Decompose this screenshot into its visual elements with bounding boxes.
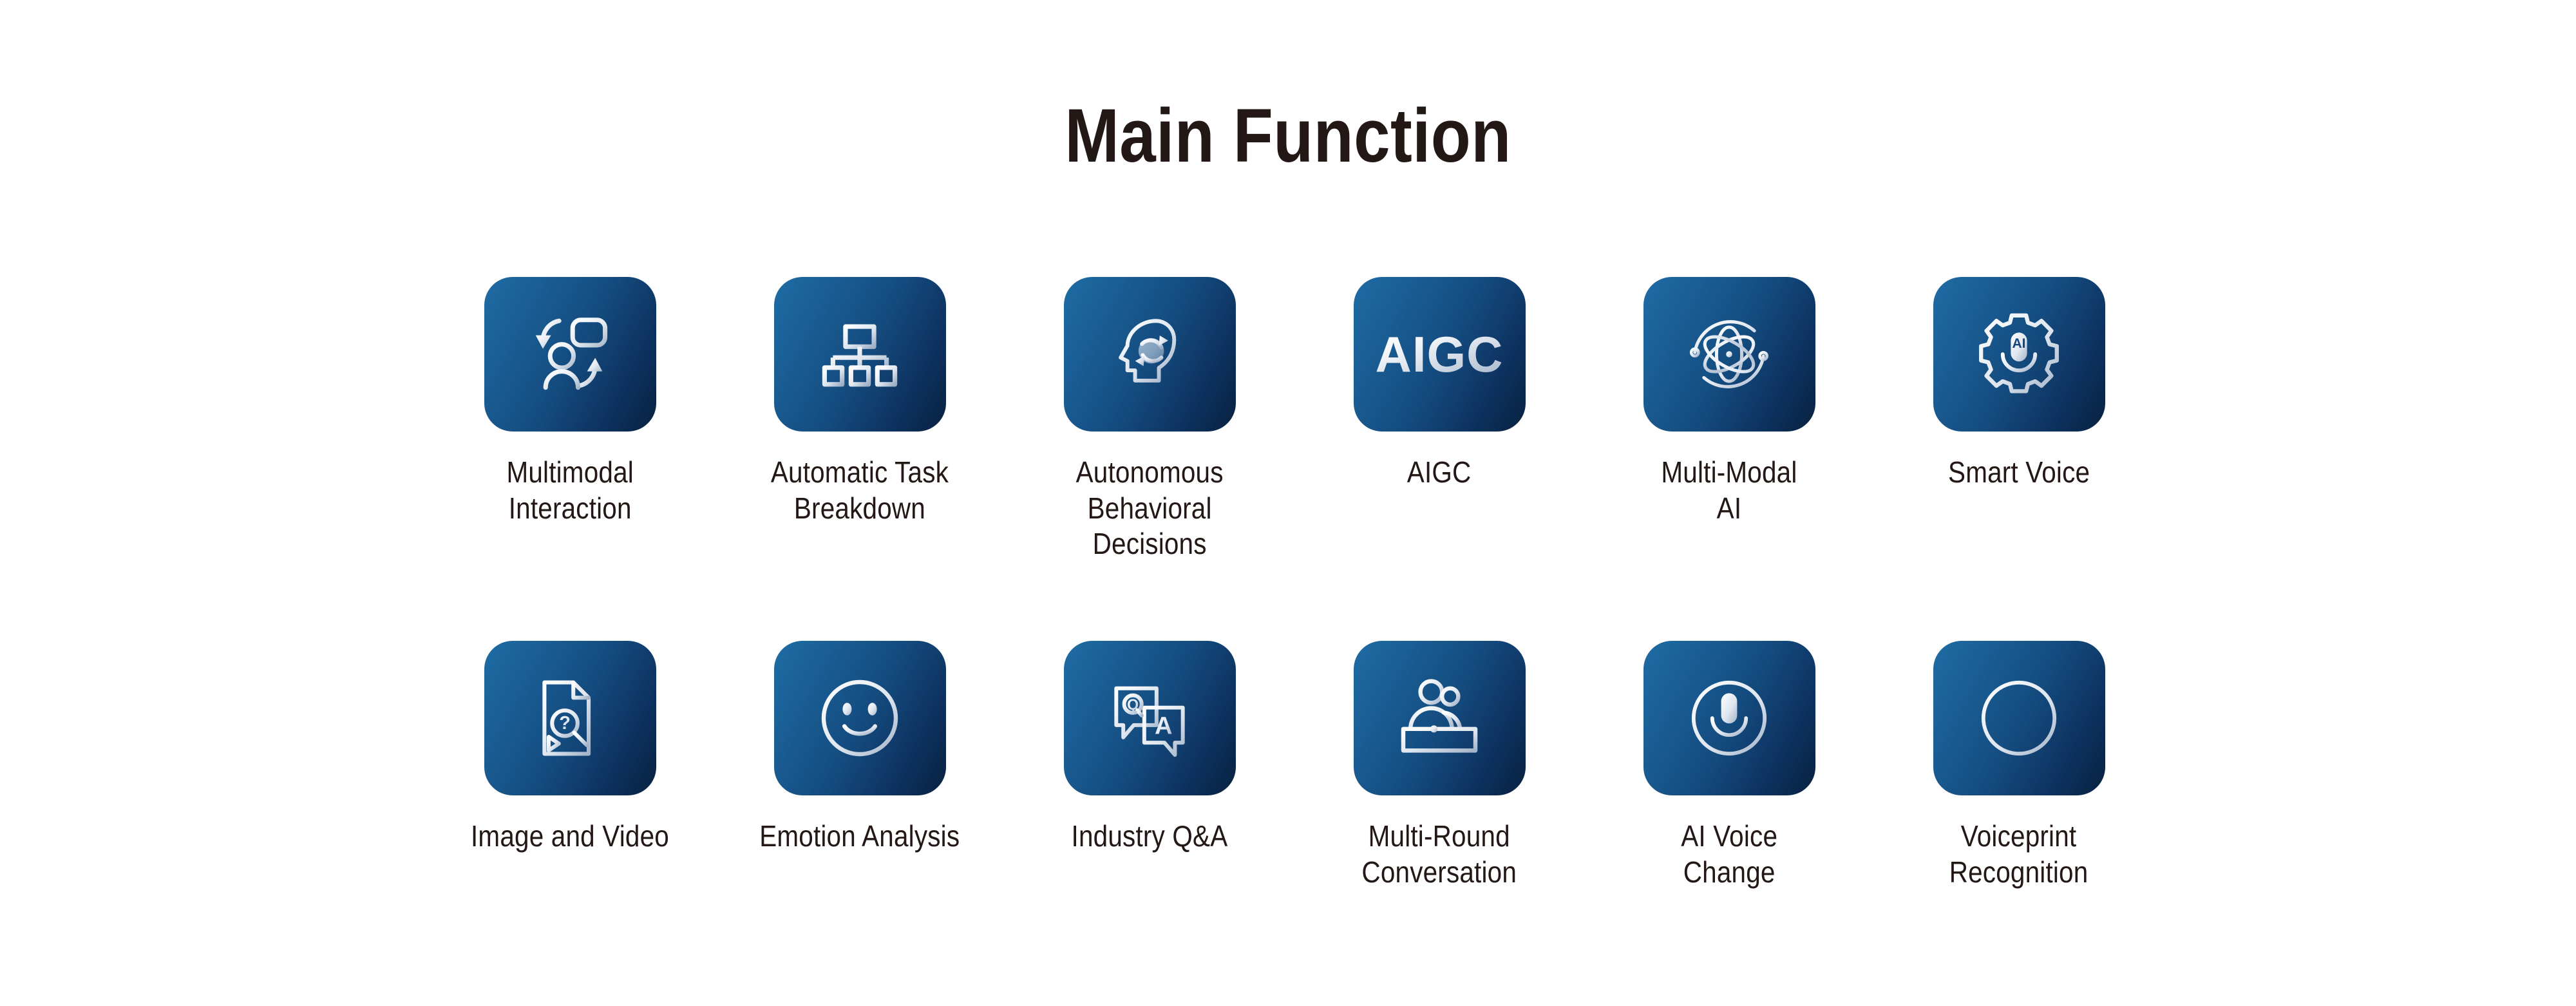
feature-tile[interactable]: AIGC	[1354, 277, 1526, 432]
svg-text:Q: Q	[1127, 696, 1139, 712]
gear-microphone-ai-icon: AI	[1974, 309, 2064, 399]
feature-label: Image and Video	[471, 819, 669, 855]
feature-grid: Multimodal Interaction	[425, 277, 2164, 890]
head-refresh-brain-icon	[1107, 312, 1192, 397]
feature-cell-multi-round-conversation[interactable]: Multi-Round Conversation	[1294, 641, 1584, 890]
feature-tile[interactable]: ?	[484, 641, 656, 795]
group-conversation-desk-icon	[1394, 673, 1484, 763]
waveform-circle-icon	[1975, 674, 2063, 763]
feature-cell-voiceprint-recognition[interactable]: Voiceprint Recognition	[1874, 641, 2164, 890]
feature-label: Multi-Round Conversation	[1362, 819, 1517, 890]
svg-text:?: ?	[559, 713, 571, 734]
feature-tile[interactable]: Q A	[1064, 641, 1236, 795]
smiley-face-icon	[815, 673, 905, 763]
feature-cell-emotion-analysis[interactable]: Emotion Analysis	[715, 641, 1005, 855]
feature-row-2: ? Image and Video	[425, 641, 2164, 890]
q-and-a-speech-bubbles-icon: Q A	[1106, 674, 1193, 762]
feature-tile[interactable]	[774, 641, 946, 795]
feature-label: Multi-Modal AI	[1661, 455, 1797, 526]
feature-tile[interactable]	[1643, 641, 1815, 795]
feature-cell-smart-voice[interactable]: AI Smart Voice	[1874, 277, 2164, 491]
feature-label: Emotion Analysis	[759, 819, 960, 855]
feature-label: Autonomous Behavioral Decisions	[1075, 455, 1223, 562]
main-function-page: Main Function	[0, 0, 2576, 1006]
feature-cell-aigc[interactable]: AIGC AIGC	[1294, 277, 1584, 491]
svg-text:A: A	[1155, 712, 1173, 739]
feature-tile[interactable]	[484, 277, 656, 432]
feature-cell-multimodal-interaction[interactable]: Multimodal Interaction	[425, 277, 715, 526]
feature-cell-ai-voice-change[interactable]: AI Voice Change	[1584, 641, 1874, 890]
aigc-text-icon: AIGC	[1376, 329, 1504, 379]
feature-cell-multi-modal-ai[interactable]: Multi-Modal AI	[1584, 277, 1874, 526]
feature-tile[interactable]: AI	[1933, 277, 2105, 432]
feature-cell-image-and-video[interactable]: ? Image and Video	[425, 641, 715, 855]
microphone-circle-icon	[1685, 674, 1774, 763]
multimodal-interaction-icon	[525, 309, 615, 399]
feature-cell-autonomous-behavioral-decisions[interactable]: Autonomous Behavioral Decisions	[1005, 277, 1294, 562]
svg-text:AI: AI	[2012, 336, 2026, 351]
feature-label: Automatic Task Breakdown	[771, 455, 949, 526]
feature-tile[interactable]	[1354, 641, 1526, 795]
feature-cell-automatic-task-breakdown[interactable]: Automatic Task Breakdown	[715, 277, 1005, 526]
feature-label: AIGC	[1407, 455, 1472, 491]
feature-tile[interactable]	[1064, 277, 1236, 432]
task-breakdown-hierarchy-icon	[818, 312, 902, 396]
feature-label: Multimodal Interaction	[506, 455, 633, 526]
feature-label: Industry Q&A	[1072, 819, 1228, 855]
feature-label: AI Voice Change	[1681, 819, 1777, 890]
feature-row-1: Multimodal Interaction	[425, 277, 2164, 562]
page-title: Main Function	[180, 97, 2396, 176]
atom-icon	[1684, 309, 1774, 399]
document-magnifier-play-icon: ?	[527, 676, 612, 761]
feature-tile[interactable]	[1643, 277, 1815, 432]
feature-label: Voiceprint Recognition	[1949, 819, 2088, 890]
feature-cell-industry-qa[interactable]: Q A Industry Q&A	[1005, 641, 1294, 855]
feature-tile[interactable]	[1933, 641, 2105, 795]
feature-label: Smart Voice	[1948, 455, 2090, 491]
feature-tile[interactable]	[774, 277, 946, 432]
